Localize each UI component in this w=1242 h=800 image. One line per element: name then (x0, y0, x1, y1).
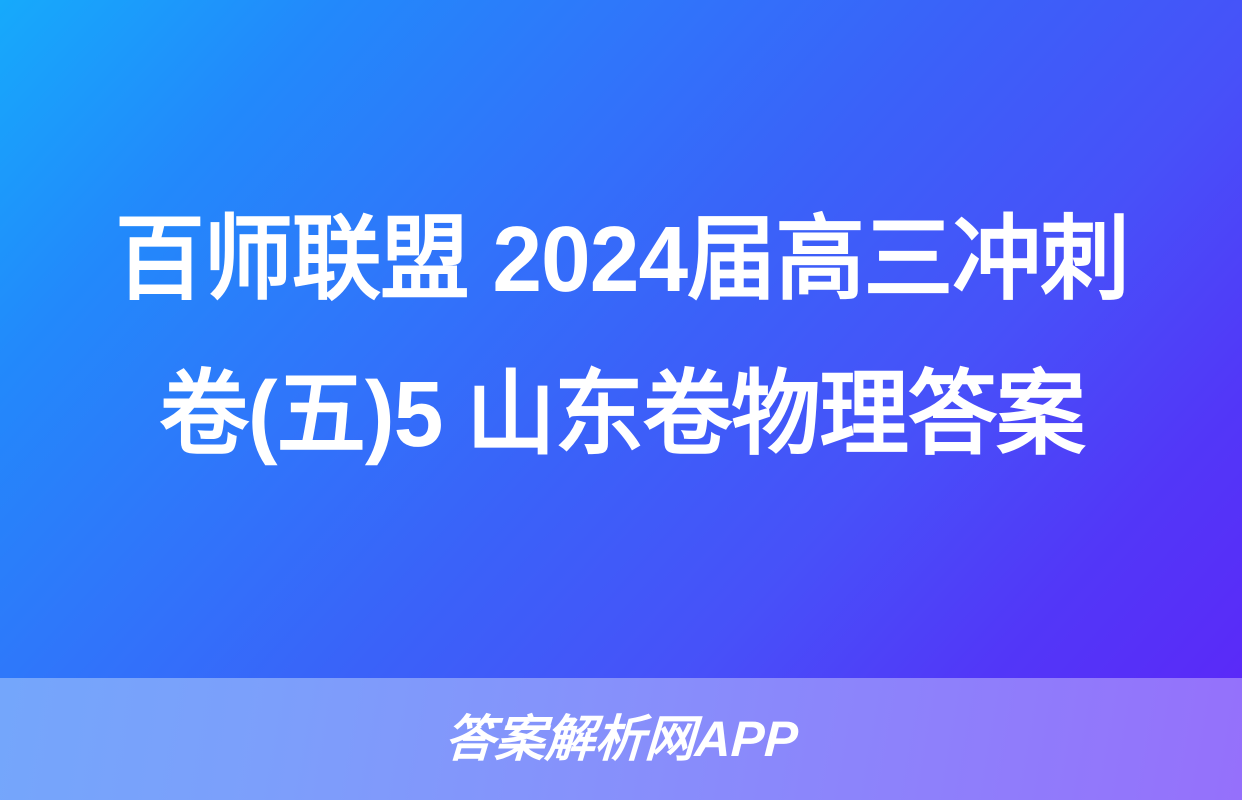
page-title: 百师联盟 2024届高三冲刺卷(五)5 山东卷物理答案 (102, 182, 1143, 492)
watermark-band: 答案解析网APP (0, 678, 1242, 800)
poster-title-block: 百师联盟 2024届高三冲刺卷(五)5 山东卷物理答案 (80, 182, 1164, 492)
poster-canvas: 百师联盟 2024届高三冲刺卷(五)5 山东卷物理答案 答案解析网APP (0, 0, 1242, 800)
app-watermark-label: 答案解析网APP (443, 713, 799, 765)
watermark-inner: 答案解析网APP (0, 678, 1242, 800)
